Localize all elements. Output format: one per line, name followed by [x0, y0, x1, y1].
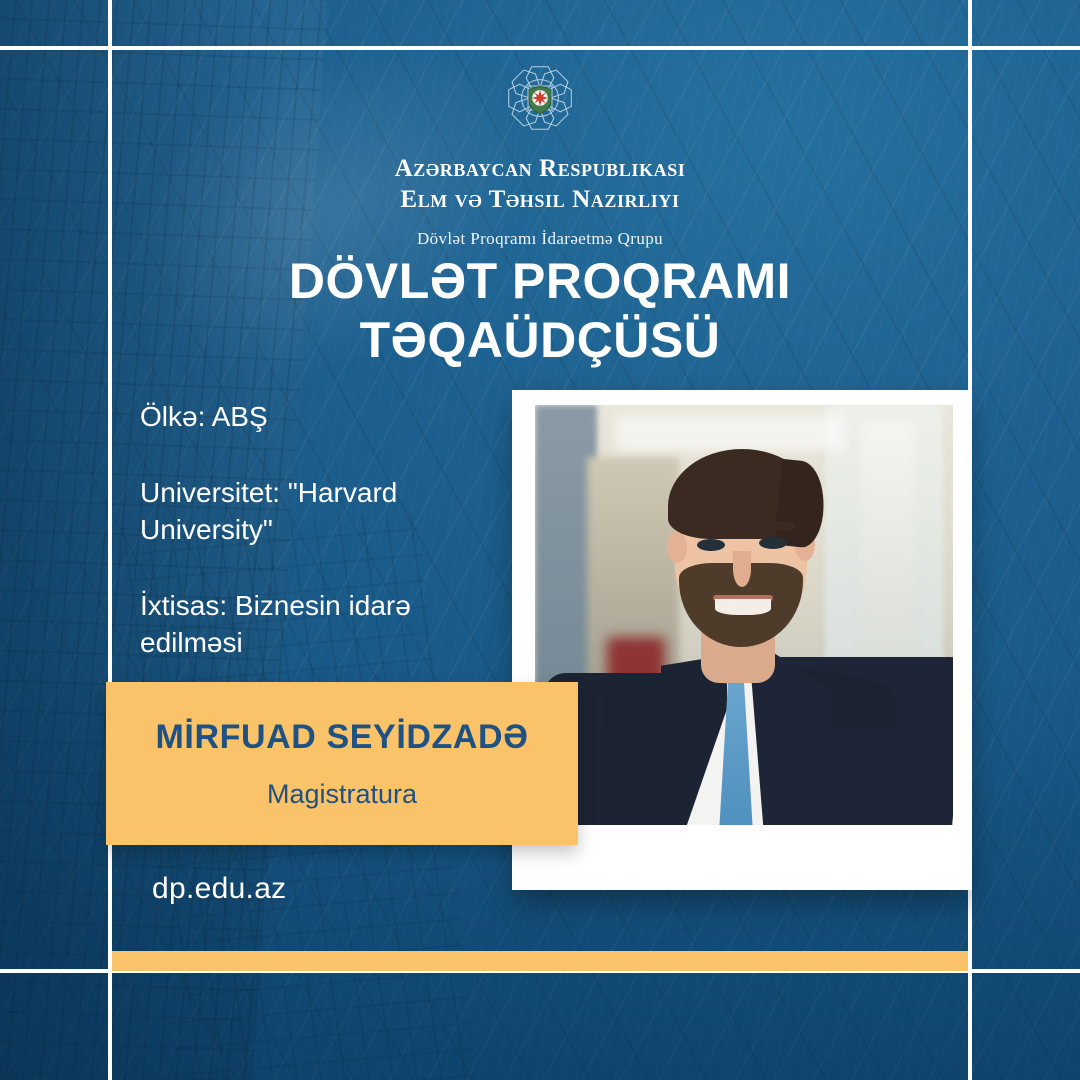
- portrait-photo-card: [512, 390, 972, 890]
- scholarship-announcement-poster: Azərbaycan Respublikası Elm və Təhsil Na…: [0, 0, 1080, 1080]
- ministry-logo-block: Azərbaycan Respublikası Elm və Təhsil Na…: [0, 52, 1080, 249]
- accent-bar-bottom: [112, 951, 968, 971]
- scholar-details-list: Ölkə: ABŞ Universitet: "Harvard Universi…: [140, 398, 510, 662]
- scholar-degree: Magistratura: [267, 779, 417, 810]
- scholar-name: MİRFUAD SEYİDZADƏ: [156, 718, 529, 757]
- ministry-name-line2: Elm və Təhsil Nazirliyi: [0, 185, 1080, 216]
- headline-line-1: DÖVLƏT PROQRAMI: [289, 253, 791, 309]
- headline-line-2: TƏQAÜDÇÜSÜ: [0, 311, 1080, 370]
- website-url[interactable]: dp.edu.az: [152, 872, 286, 906]
- page-title: DÖVLƏT PROQRAMI TƏQAÜDÇÜSÜ: [0, 252, 1080, 370]
- portrait-photo: [535, 405, 953, 825]
- detail-university: Universitet: "Harvard University": [140, 474, 510, 549]
- azerbaijan-ministry-emblem-icon: [494, 52, 586, 144]
- detail-specialty: İxtisas: Biznesin idarə edilməsi: [140, 587, 510, 662]
- detail-country: Ölkə: ABŞ: [140, 398, 510, 436]
- scholar-name-banner: MİRFUAD SEYİDZADƏ Magistratura: [106, 682, 578, 845]
- ministry-subtitle: Dövlət Proqramı İdarəetmə Qrupu: [0, 229, 1080, 249]
- frame-line-horizontal-top: [0, 46, 1080, 50]
- ministry-name-line1: Azərbaycan Respublikası: [0, 154, 1080, 185]
